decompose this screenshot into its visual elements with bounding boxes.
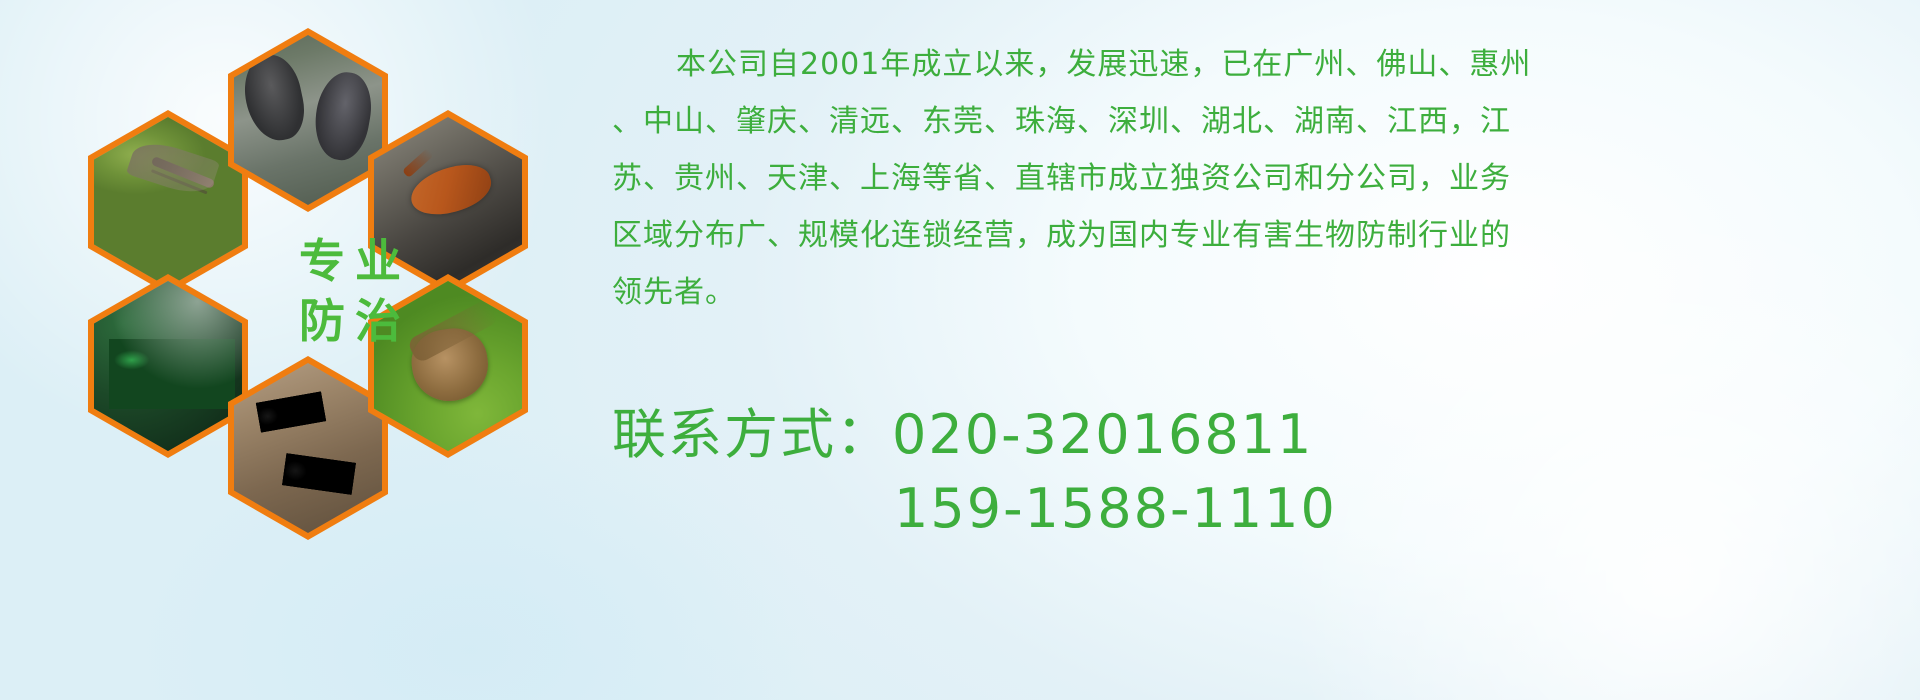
about-line-4: 区域分布广、规模化连锁经营，成为国内专业有害生物防制行业的	[612, 207, 1902, 264]
hex-photo-mosquito	[88, 110, 248, 294]
about-line-1: 本公司自2001年成立以来，发展迅速，已在广州、佛山、惠州	[612, 36, 1902, 93]
hexagon-photo-collage: 专业 防治	[88, 10, 588, 570]
hex-photo-flies	[88, 274, 248, 458]
about-line-5: 领先者。	[612, 264, 1902, 321]
about-line-2: 、中山、肇庆、清远、东莞、珠海、深圳、湖北、湖南、江西，江	[612, 93, 1902, 150]
about-paragraph: 本公司自2001年成立以来，发展迅速，已在广州、佛山、惠州 、中山、肇庆、清远、…	[612, 36, 1902, 321]
contact-secondary-phone[interactable]: 159-1588-1110	[612, 472, 1902, 546]
promo-banner: 专业 防治 本公司自2001年成立以来，发展迅速，已在广州、佛山、惠州 、中山、…	[0, 0, 1920, 700]
collage-label-line-2: 防治	[289, 298, 411, 344]
flies-image	[94, 281, 242, 451]
contact-block: 联系方式：020-32016811 159-1588-1110	[612, 398, 1902, 546]
collage-center-label: 专业 防治	[268, 196, 432, 386]
about-line-3: 苏、贵州、天津、上海等省、直辖市成立独资公司和分公司，业务	[612, 150, 1902, 207]
contact-primary-phone[interactable]: 联系方式：020-32016811	[612, 398, 1902, 472]
collage-label-line-1: 专业	[289, 238, 411, 284]
ants-image	[234, 363, 382, 533]
mosquito-image	[94, 117, 242, 287]
rats-image	[234, 35, 382, 205]
hex-photo-rats	[228, 28, 388, 212]
company-description-block: 本公司自2001年成立以来，发展迅速，已在广州、佛山、惠州 、中山、肇庆、清远、…	[612, 36, 1902, 321]
